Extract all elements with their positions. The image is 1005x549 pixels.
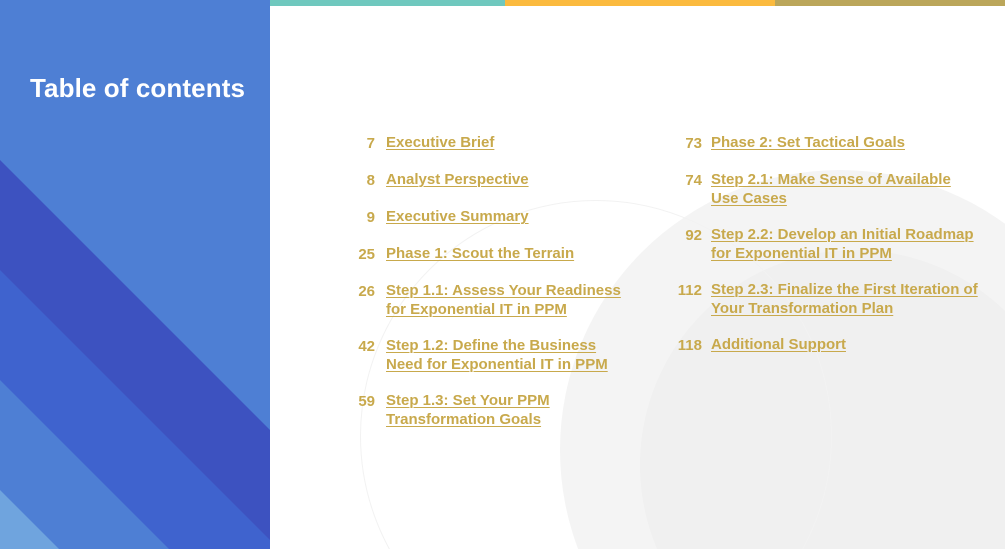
toc-entry[interactable]: 9 Executive Summary <box>345 207 635 227</box>
toc-page-number: 92 <box>670 225 702 245</box>
toc-link[interactable]: Executive Summary <box>386 207 529 226</box>
toc-entry[interactable]: 8 Analyst Perspective <box>345 170 635 190</box>
toc-page-number: 59 <box>345 391 375 411</box>
toc-link[interactable]: Step 2.3: Finalize the First Iteration o… <box>711 280 980 318</box>
toc-link[interactable]: Phase 2: Set Tactical Goals <box>711 133 905 152</box>
toc-entry[interactable]: 7 Executive Brief <box>345 133 635 153</box>
toc-entry[interactable]: 112 Step 2.3: Finalize the First Iterati… <box>670 280 980 318</box>
toc-page-number: 42 <box>345 336 375 356</box>
toc-link[interactable]: Step 1.2: Define the Business Need for E… <box>386 336 635 374</box>
toc-page-number: 25 <box>345 244 375 264</box>
toc-link[interactable]: Executive Brief <box>386 133 494 152</box>
toc-link[interactable]: Additional Support <box>711 335 846 354</box>
toc-entry[interactable]: 74 Step 2.1: Make Sense of Available Use… <box>670 170 980 208</box>
table-of-contents: 7 Executive Brief 8 Analyst Perspective … <box>270 0 1005 549</box>
toc-page-number: 8 <box>345 170 375 190</box>
olive-segment <box>775 0 1005 6</box>
toc-entry[interactable]: 59 Step 1.3: Set Your PPM Transformation… <box>345 391 635 429</box>
toc-page-number: 112 <box>670 280 702 300</box>
toc-page-number: 118 <box>670 335 702 355</box>
slide: Table of contents 7 Executive Brief 8 An… <box>0 0 1005 549</box>
toc-page-number: 73 <box>670 133 702 153</box>
toc-link[interactable]: Step 2.2: Develop an Initial Roadmap for… <box>711 225 980 263</box>
toc-column-right: 73 Phase 2: Set Tactical Goals 74 Step 2… <box>670 133 980 372</box>
toc-link[interactable]: Phase 1: Scout the Terrain <box>386 244 574 263</box>
toc-link[interactable]: Step 2.1: Make Sense of Available Use Ca… <box>711 170 980 208</box>
page-title: Table of contents <box>30 73 245 104</box>
toc-entry[interactable]: 92 Step 2.2: Develop an Initial Roadmap … <box>670 225 980 263</box>
toc-entry[interactable]: 25 Phase 1: Scout the Terrain <box>345 244 635 264</box>
toc-column-left: 7 Executive Brief 8 Analyst Perspective … <box>345 133 635 446</box>
toc-entry[interactable]: 42 Step 1.2: Define the Business Need fo… <box>345 336 635 374</box>
top-accent-bar <box>270 0 1005 6</box>
teal-segment <box>270 0 505 6</box>
toc-link[interactable]: Analyst Perspective <box>386 170 529 189</box>
toc-page-number: 9 <box>345 207 375 227</box>
toc-entry[interactable]: 73 Phase 2: Set Tactical Goals <box>670 133 980 153</box>
toc-page-number: 7 <box>345 133 375 153</box>
toc-entry[interactable]: 118 Additional Support <box>670 335 980 355</box>
left-decorative-panel: Table of contents <box>0 0 270 549</box>
toc-link[interactable]: Step 1.3: Set Your PPM Transformation Go… <box>386 391 635 429</box>
toc-entry[interactable]: 26 Step 1.1: Assess Your Readiness for E… <box>345 281 635 319</box>
toc-page-number: 74 <box>670 170 702 190</box>
toc-link[interactable]: Step 1.1: Assess Your Readiness for Expo… <box>386 281 635 319</box>
toc-page-number: 26 <box>345 281 375 301</box>
amber-segment <box>505 0 775 6</box>
